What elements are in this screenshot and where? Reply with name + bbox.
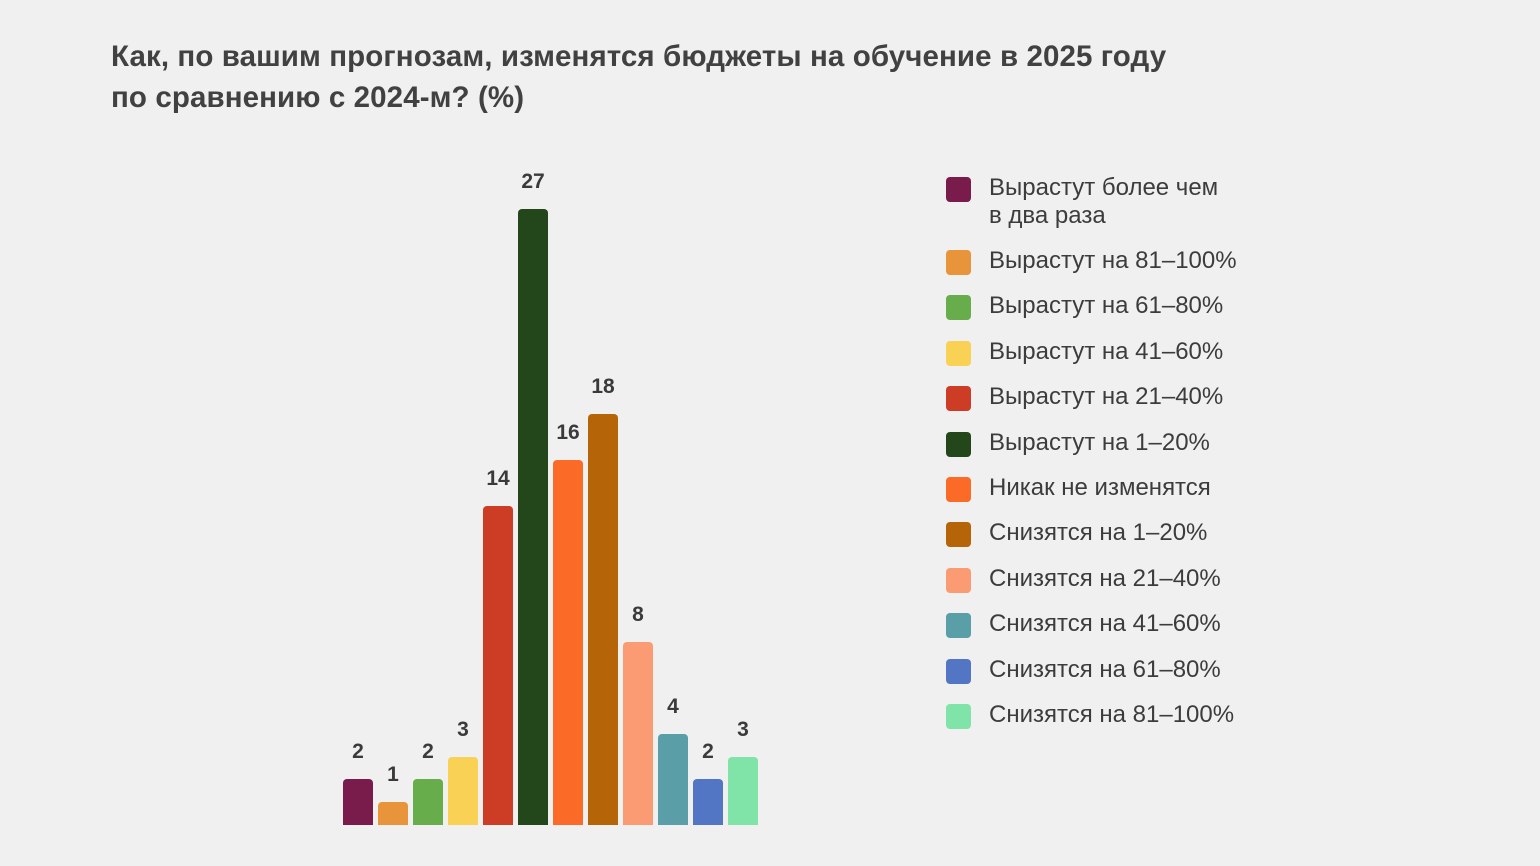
legend-swatch-icon [946,613,971,638]
bar-slot: 14 [483,150,513,825]
legend-swatch-icon [946,432,971,457]
legend-item-label: Вырастут на 61–80% [989,292,1223,320]
legend-item-label: Снизятся на 41–60% [989,610,1221,638]
legend-swatch-icon [946,386,971,411]
bar-slot: 18 [588,150,618,825]
legend-item[interactable]: Снизятся на 61–80% [946,656,1221,684]
bar[interactable] [623,642,653,825]
legend-item[interactable]: Никак не изменятся [946,474,1211,502]
legend-item-label: Вырастут на 21–40% [989,383,1223,411]
legend-item-label: Вырастут на 1–20% [989,429,1210,457]
legend-item[interactable]: Снизятся на 41–60% [946,610,1221,638]
bar[interactable] [413,779,443,825]
bar-slot: 2 [343,150,373,825]
legend-item[interactable]: Вырастут на 61–80% [946,292,1223,320]
legend-item-label: Вырастут более чем в два раза [989,174,1218,230]
legend-item-label: Никак не изменятся [989,474,1211,502]
legend-item-label: Снизятся на 21–40% [989,565,1221,593]
bar-slot: 8 [623,150,653,825]
bar[interactable] [378,802,408,825]
bar[interactable] [518,209,548,825]
legend-swatch-icon [946,477,971,502]
legend-swatch-icon [946,659,971,684]
legend-swatch-icon [946,250,971,275]
legend-item[interactable]: Снизятся на 21–40% [946,565,1221,593]
plot-area: 2123142716188423 [343,150,763,825]
bar-value-label: 3 [706,719,780,740]
legend-item[interactable]: Вырастут на 81–100% [946,247,1237,275]
bar-slot: 16 [553,150,583,825]
legend-item[interactable]: Снизятся на 81–100% [946,701,1234,729]
legend-item-label: Снизятся на 81–100% [989,701,1234,729]
legend-swatch-icon [946,522,971,547]
page-title: Как, по вашим прогнозам, изменятся бюдже… [111,36,1401,118]
legend-swatch-icon [946,295,971,320]
legend-swatch-icon [946,568,971,593]
legend-item-label: Снизятся на 61–80% [989,656,1221,684]
bar[interactable] [553,460,583,825]
legend-item[interactable]: Снизятся на 1–20% [946,519,1207,547]
legend-swatch-icon [946,704,971,729]
chart-container: Как, по вашим прогнозам, изменятся бюдже… [0,0,1540,866]
bar-slot: 4 [658,150,688,825]
bar[interactable] [483,506,513,825]
bar-slot: 27 [518,150,548,825]
legend-item-label: Вырастут на 41–60% [989,338,1223,366]
bar[interactable] [728,757,758,825]
bar[interactable] [343,779,373,825]
legend-item-label: Снизятся на 1–20% [989,519,1207,547]
bar[interactable] [448,757,478,825]
legend-swatch-icon [946,341,971,366]
legend-item-label: Вырастут на 81–100% [989,247,1237,275]
legend-item[interactable]: Вырастут на 1–20% [946,429,1210,457]
bar[interactable] [693,779,723,825]
legend-item[interactable]: Вырастут на 41–60% [946,338,1223,366]
legend-swatch-icon [946,177,971,202]
legend-item[interactable]: Вырастут более чем в два раза [946,174,1218,230]
bar-slot: 3 [728,150,758,825]
bar-slot: 1 [378,150,408,825]
legend-item[interactable]: Вырастут на 21–40% [946,383,1223,411]
